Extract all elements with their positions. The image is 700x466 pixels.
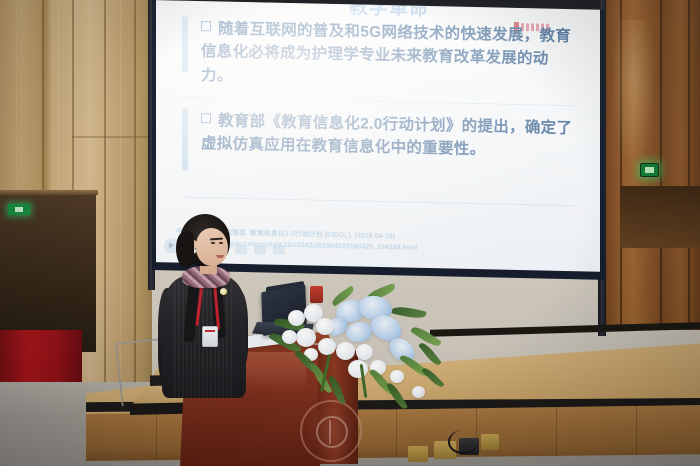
bullet-2-quoted-title: 《教育信息化2.0行动计划》 (265, 113, 461, 134)
right-wall-alcove (620, 186, 700, 248)
presentation-scene: 教学革命 随着互联网的普及和5G网络技术的快速发展，教育信息化必将成为护理学专业… (0, 0, 700, 466)
bullet-marker-icon (201, 113, 211, 123)
slide-bullet-2: 教育部《教育信息化2.0行动计划》的提出，确定了虚拟仿真应用在教育信息化中的重要… (182, 109, 574, 180)
exit-sign-icon (640, 163, 659, 177)
exit-sign-icon (8, 204, 30, 215)
slide-bullet-1: 随着互联网的普及和5G网络技术的快速发展，教育信息化必将成为护理学专业未来教育改… (182, 17, 574, 95)
floor-outlet-box (481, 434, 499, 450)
floral-arrangement (270, 286, 450, 422)
alcove-shelf (0, 190, 98, 195)
bullet-2-highlight: 教育部 (218, 112, 265, 130)
speaker-face (196, 228, 228, 266)
bullet-1-text: 随着互联网的普及和5G网络技术的快速发展，教育信息化必将成为护理学专业未来教育改… (201, 20, 571, 84)
floor-outlet-box (408, 446, 428, 462)
brooch-icon (220, 288, 227, 295)
speaker-hair-front (176, 232, 194, 268)
outlet-cable (448, 430, 478, 454)
name-badge (202, 326, 218, 347)
accent-bar (182, 109, 188, 171)
bullet-marker-icon (201, 21, 211, 31)
left-wall-alcove (0, 192, 96, 352)
speaker-person (158, 214, 252, 394)
accent-bar (182, 17, 188, 73)
